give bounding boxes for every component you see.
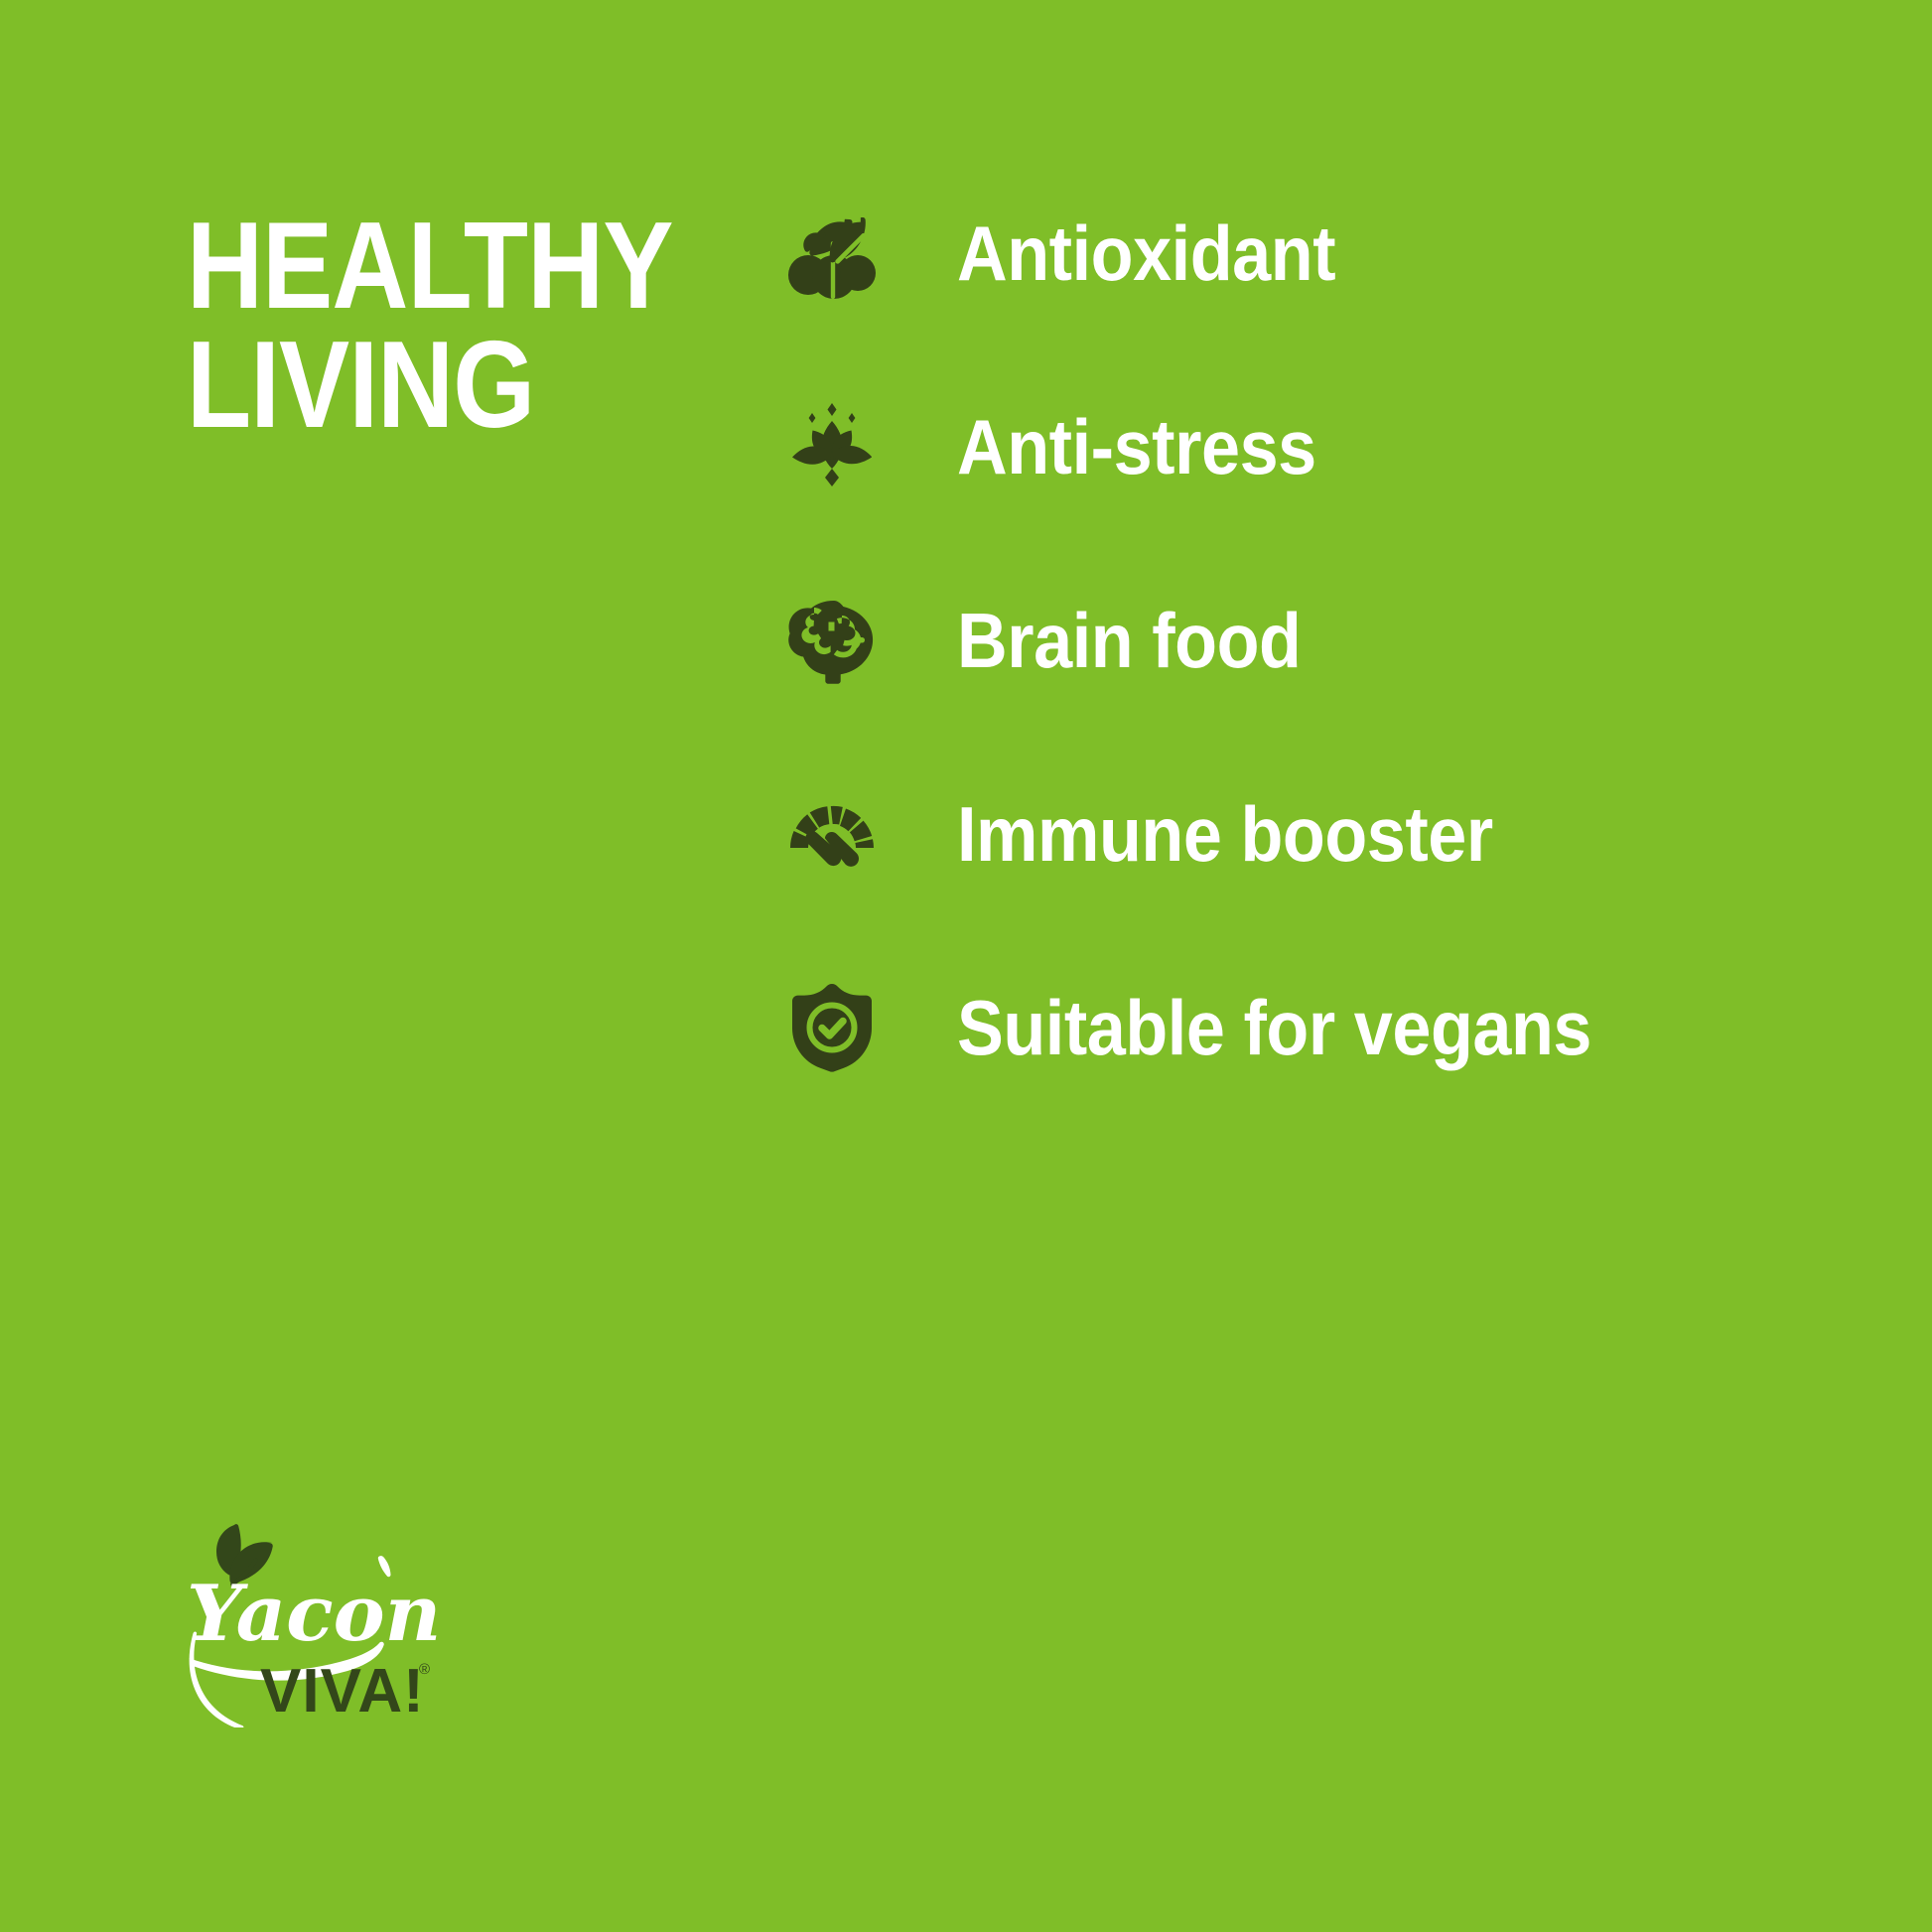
gauge-icon [784,786,880,882]
benefit-item-suitable-for-vegans: Suitable for vegans [784,969,1837,1086]
brand-logo[interactable]: Yacon VIVA! ® Yacon VIVA! [179,1509,477,1727]
benefits-list: Antioxidant [784,195,1837,1086]
benefit-item-antioxidant: Antioxidant [784,195,1837,312]
benefit-label-antioxidant: Antioxidant [957,214,1335,292]
benefit-label-suitable-for-vegans: Suitable for vegans [957,989,1591,1066]
benefit-label-immune-booster: Immune booster [957,795,1493,873]
logo-block-label: VIVA! [179,1727,180,1728]
page-title-line-1: HEALTHY [187,207,665,326]
page-title: HEALTHY LIVING [187,207,665,446]
page-title-line-2: LIVING [187,326,665,445]
shield-check-icon [784,980,880,1075]
svg-text:VIVA!: VIVA! [260,1657,425,1725]
benefit-item-brain-food: Brain food [784,582,1837,699]
logo-block-word: VIVA! ® [260,1657,430,1725]
leaf-berries-icon [784,206,880,301]
benefit-item-immune-booster: Immune booster [784,775,1837,893]
benefit-label-anti-stress: Anti-stress [957,408,1316,485]
logo-script-label: Yacon [179,1727,180,1728]
brain-icon [784,593,880,688]
benefit-label-brain-food: Brain food [957,602,1301,679]
svg-text:®: ® [419,1661,430,1678]
poster-canvas: HEALTHY LIVING [0,0,1932,1932]
svg-text:Yacon: Yacon [187,1569,441,1659]
benefit-item-anti-stress: Anti-stress [784,388,1837,505]
lotus-flower-icon [784,399,880,494]
